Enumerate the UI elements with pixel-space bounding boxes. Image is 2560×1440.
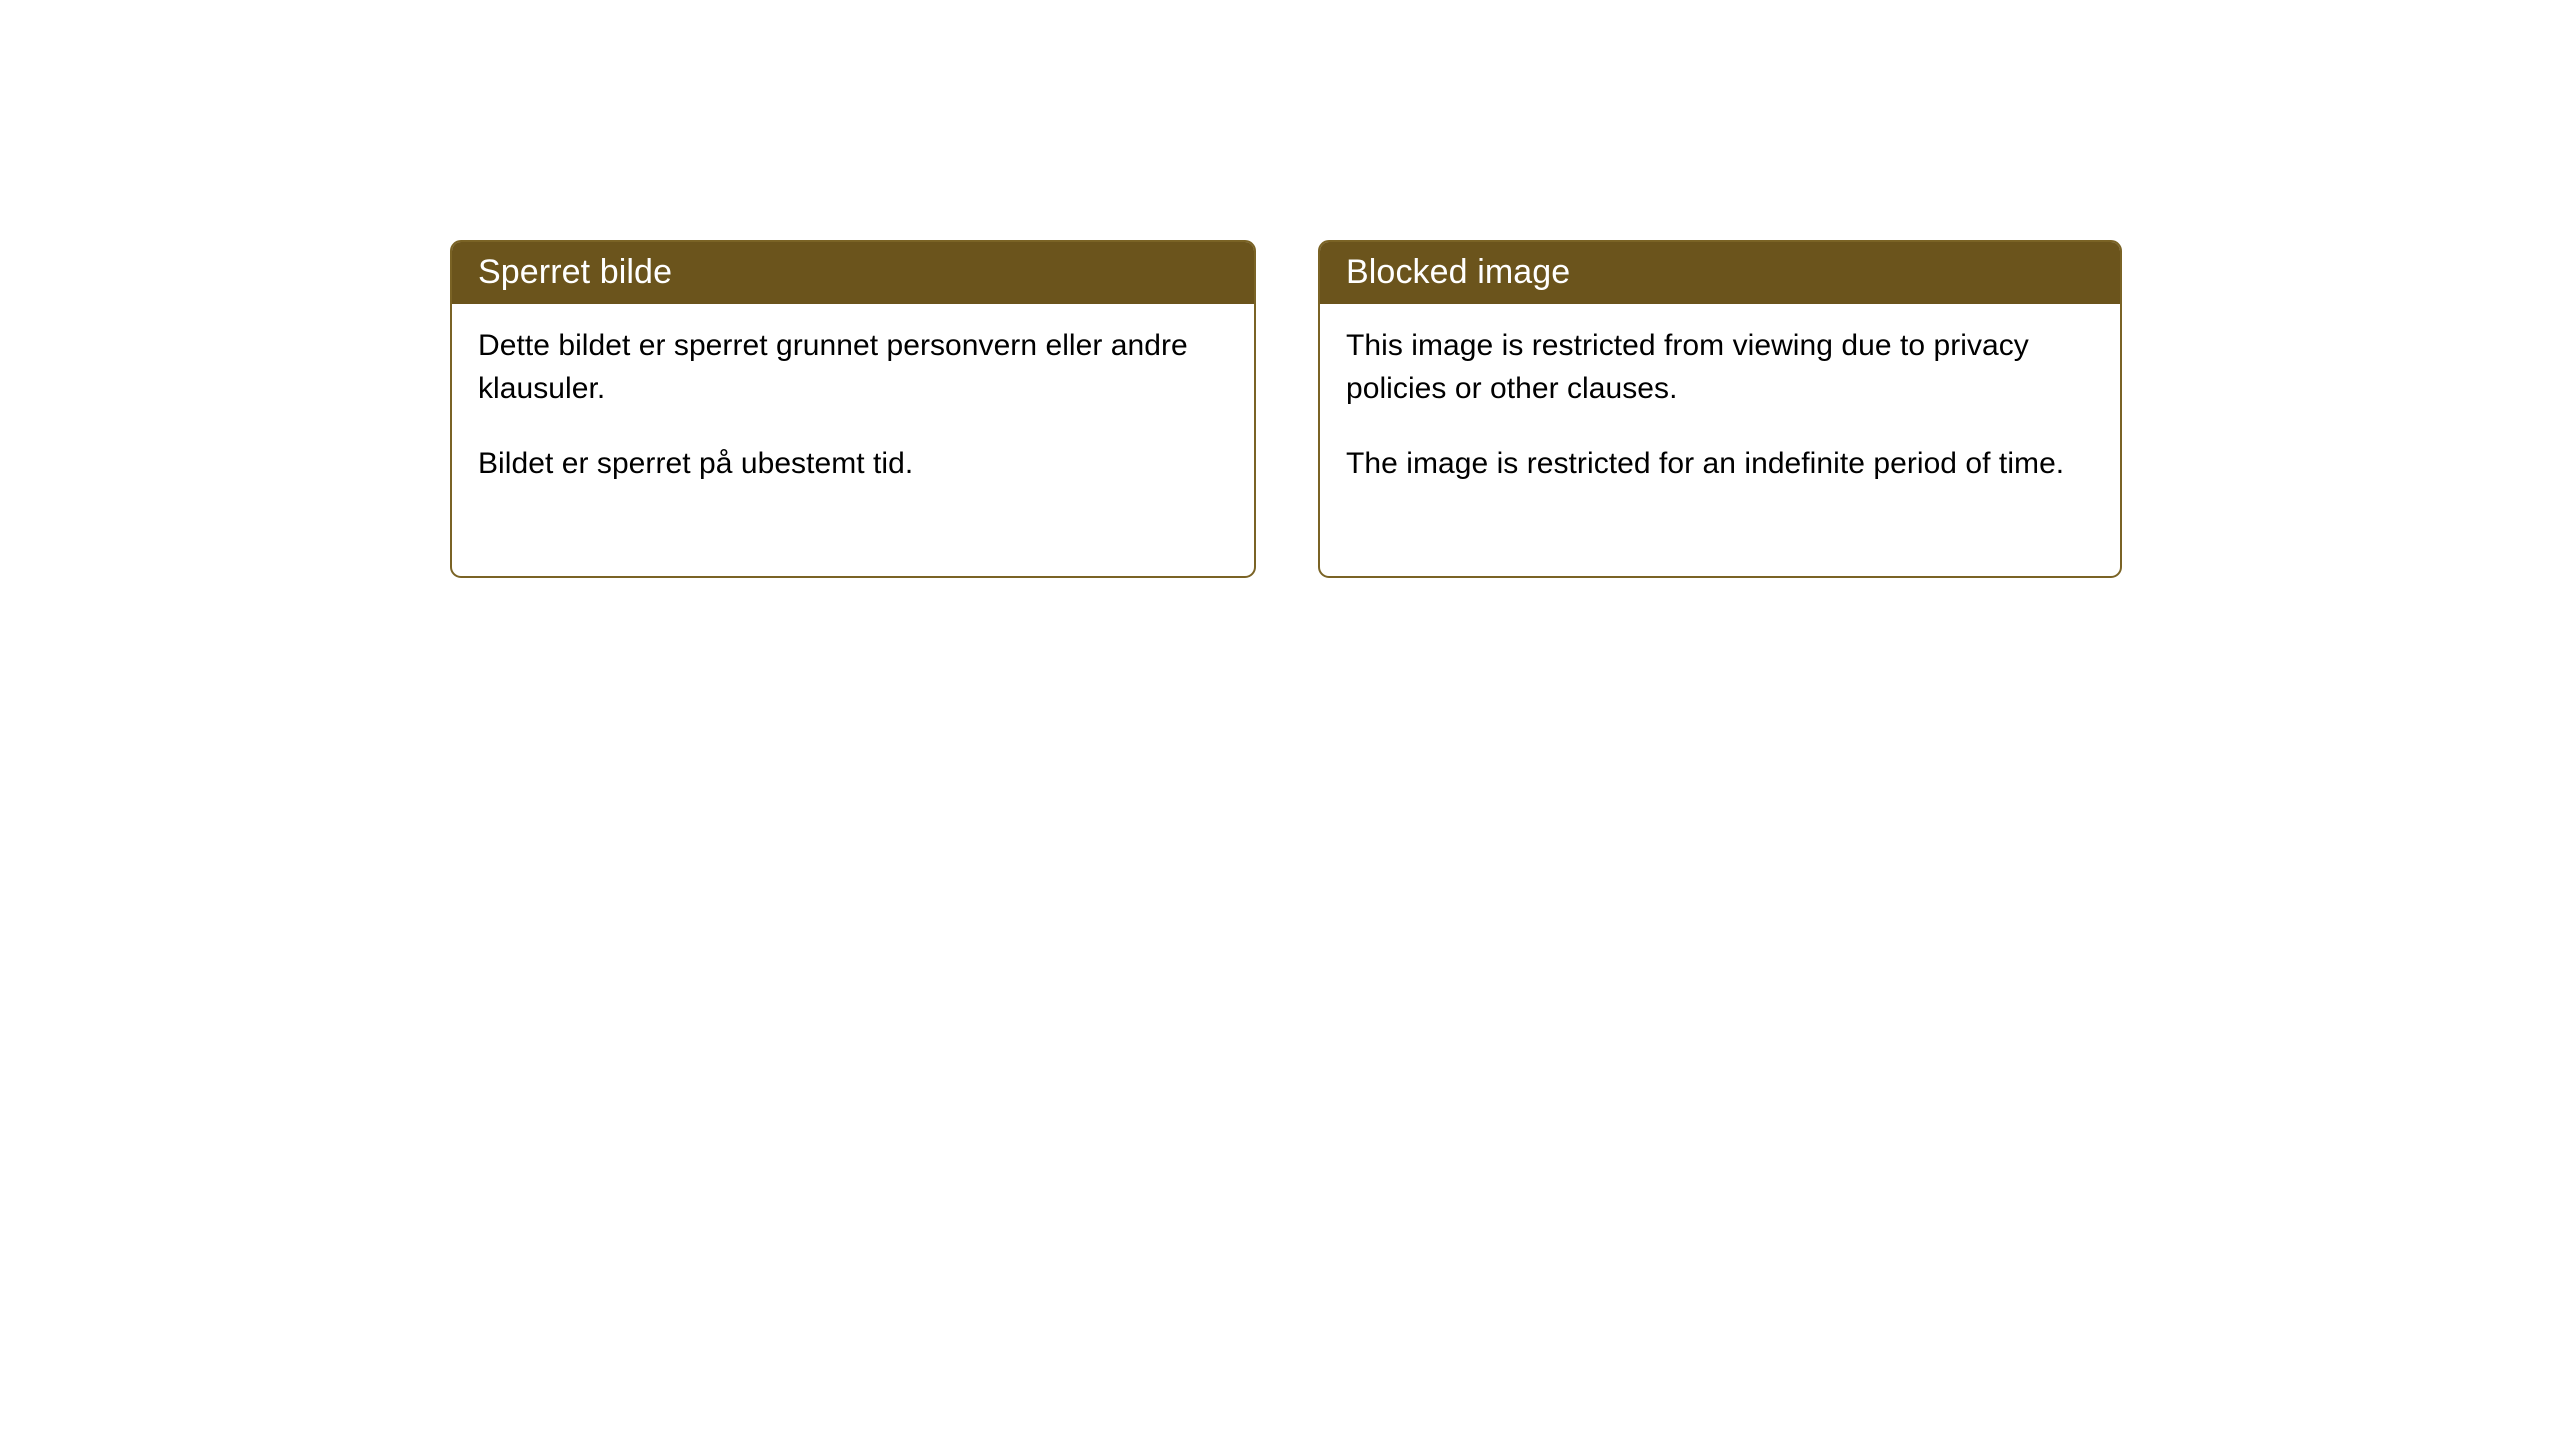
paragraph-spacer [478,410,1230,442]
card-title-norwegian: Sperret bilde [478,255,672,289]
card-paragraph-english-2: The image is restricted for an indefinit… [1346,442,2096,485]
card-header-english: Blocked image [1318,240,2122,304]
paragraph-spacer [1346,410,2096,442]
card-paragraph-norwegian-2: Bildet er sperret på ubestemt tid. [478,442,1230,485]
card-paragraph-norwegian-1: Dette bildet er sperret grunnet personve… [478,324,1230,410]
card-body-norwegian: Dette bildet er sperret grunnet personve… [452,304,1254,576]
card-header-norwegian: Sperret bilde [450,240,1256,304]
card-title-english: Blocked image [1346,255,1570,289]
blocked-image-notice-group: Sperret bilde Dette bildet er sperret gr… [450,240,2122,578]
blocked-image-card-english: Blocked image This image is restricted f… [1318,240,2122,578]
card-paragraph-english-1: This image is restricted from viewing du… [1346,324,2096,410]
blocked-image-card-norwegian: Sperret bilde Dette bildet er sperret gr… [450,240,1256,578]
card-body-english: This image is restricted from viewing du… [1320,304,2120,576]
